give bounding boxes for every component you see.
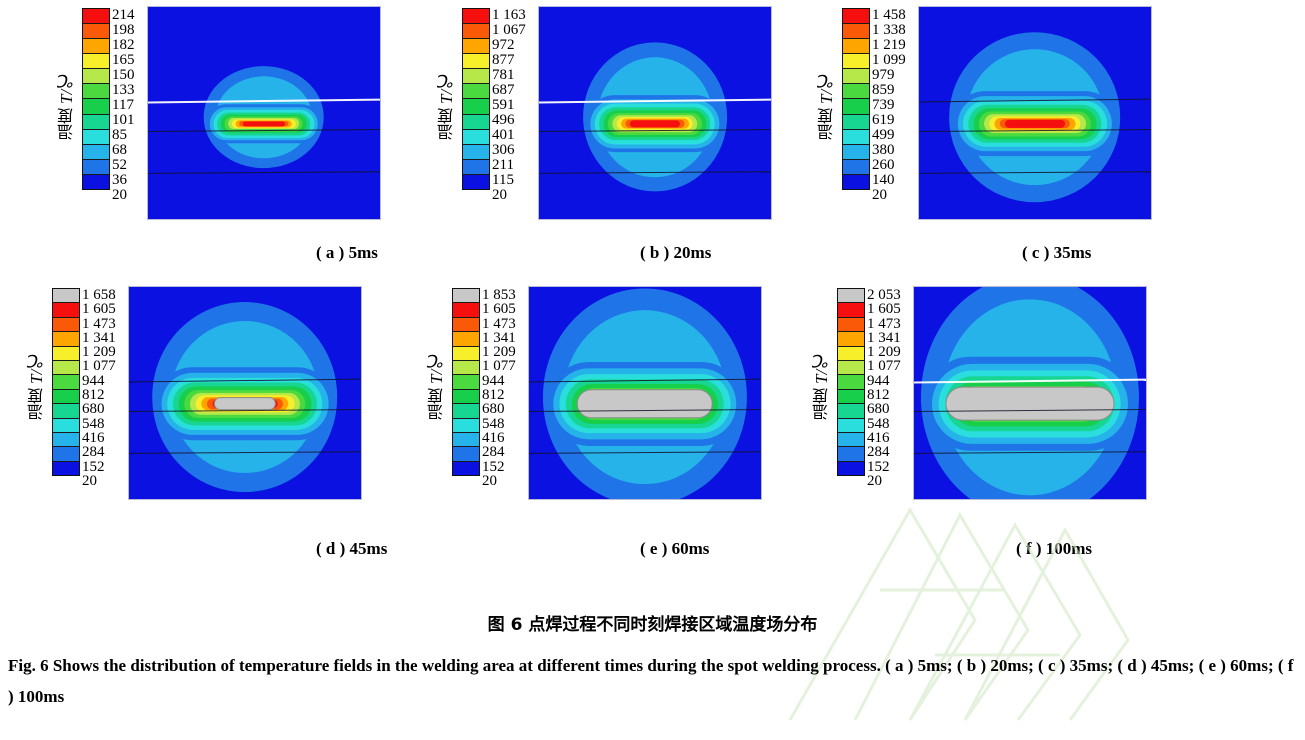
colorbar-band <box>463 84 489 99</box>
axis-label-cn-b: 温度 <box>435 108 459 140</box>
colorbar-a: 2141981821651501331171018568523620 <box>82 8 135 190</box>
axis-label-unit-f: T/℃ <box>812 350 832 384</box>
colorbar-band <box>453 404 479 418</box>
colorbar-band <box>843 145 869 160</box>
colorbar-band <box>463 9 489 24</box>
contour-band <box>630 120 680 127</box>
colorbar-c: 1 4581 3381 2191 09997985973961949938026… <box>842 8 906 190</box>
contour-plot-a <box>147 6 381 220</box>
colorbar-ticks-e: 1 8531 6051 4731 3411 2091 0779448126805… <box>482 288 516 474</box>
colorbar-ticks-f: 2 0531 6051 4731 3411 2091 0779448126805… <box>867 288 901 474</box>
colorbar-band <box>53 332 79 346</box>
colorbar-swatches-a <box>82 8 110 190</box>
sublabel-a: ( a ) 5ms <box>316 243 378 263</box>
contour-plot-c <box>918 6 1152 220</box>
panel-c: 温度 T/℃ 1 4581 3381 2191 0999798597396194… <box>815 2 1152 232</box>
colorbar-band <box>53 447 79 461</box>
colorbar-band <box>843 84 869 99</box>
colorbar-swatches-c <box>842 8 870 190</box>
colorbar-band <box>53 361 79 375</box>
colorbar-band <box>838 332 864 346</box>
colorbar-band <box>453 462 479 475</box>
colorbar-band <box>838 433 864 447</box>
sublabel-e: ( e ) 60ms <box>640 539 709 559</box>
colorbar-e: 1 8531 6051 4731 3411 2091 0779448126805… <box>452 288 516 476</box>
colorbar-band <box>53 419 79 433</box>
colorbar-band <box>83 115 109 130</box>
colorbar-band <box>838 375 864 389</box>
contour-plot-e <box>528 286 762 500</box>
colorbar-band <box>53 289 79 303</box>
sublabel-c: ( c ) 35ms <box>1022 243 1091 263</box>
colorbar-band <box>463 99 489 114</box>
colorbar-band <box>463 24 489 39</box>
colorbar-band <box>53 390 79 404</box>
colorbar-band <box>83 24 109 39</box>
colorbar-band <box>83 130 109 145</box>
colorbar-ticks-c: 1 4581 3381 2191 09997985973961949938026… <box>872 8 906 188</box>
colorbar-band <box>53 347 79 361</box>
sublabel-d: ( d ) 45ms <box>316 539 387 559</box>
panel-e: 温度 T/℃ 1 8531 6051 4731 3411 2091 077944… <box>425 282 762 512</box>
colorbar-band <box>463 115 489 130</box>
colorbar-band <box>463 54 489 69</box>
colorbar-band <box>83 84 109 99</box>
colorbar-band <box>838 419 864 433</box>
axis-label-temperature-f: 温度 T/℃ <box>810 300 834 470</box>
colorbar-band <box>843 69 869 84</box>
axis-label-unit-d: T/℃ <box>27 350 47 384</box>
colorbar-band <box>53 433 79 447</box>
colorbar-swatches-e <box>452 288 480 476</box>
axis-label-cn-a: 温度 <box>55 108 79 140</box>
colorbar-band <box>843 99 869 114</box>
colorbar-band <box>843 54 869 69</box>
colorbar-band <box>463 145 489 160</box>
molten-nugget <box>214 397 276 411</box>
axis-label-unit-e: T/℃ <box>427 350 447 384</box>
colorbar-d: 1 6581 6051 4731 3411 2091 0779448126805… <box>52 288 116 476</box>
colorbar-band <box>83 145 109 160</box>
colorbar-band <box>463 175 489 189</box>
colorbar-band <box>453 318 479 332</box>
panel-f: 温度 T/℃ 2 0531 6051 4731 3411 2091 077944… <box>810 282 1147 512</box>
axis-label-temperature-c: 温度 T/℃ <box>815 20 839 190</box>
colorbar-band <box>53 303 79 317</box>
colorbar-band <box>453 433 479 447</box>
axis-label-temperature-a: 温度 T/℃ <box>55 20 79 190</box>
colorbar-band <box>53 462 79 475</box>
molten-nugget <box>945 386 1114 421</box>
colorbar-band <box>838 303 864 317</box>
colorbar-band <box>843 115 869 130</box>
colorbar-band <box>453 447 479 461</box>
colorbar-band <box>83 9 109 24</box>
colorbar-band <box>463 69 489 84</box>
colorbar-band <box>838 462 864 475</box>
colorbar-ticks-b: 1 1631 067972877781687591496401306211115… <box>492 8 526 188</box>
contour-plot-b <box>538 6 772 220</box>
colorbar-band <box>463 160 489 175</box>
colorbar-band <box>843 24 869 39</box>
colorbar-band <box>453 332 479 346</box>
colorbar-band <box>838 289 864 303</box>
axis-label-temperature-e: 温度 T/℃ <box>425 300 449 470</box>
colorbar-band <box>843 175 869 189</box>
colorbar-band <box>83 54 109 69</box>
contour-band <box>242 121 284 126</box>
axis-label-unit-a: T/℃ <box>57 70 77 104</box>
panel-d: 温度 T/℃ 1 6581 6051 4731 3411 2091 077944… <box>25 282 362 512</box>
sheet-interface-line <box>147 171 381 174</box>
colorbar-band <box>838 318 864 332</box>
colorbar-b: 1 1631 067972877781687591496401306211115… <box>462 8 526 190</box>
colorbar-band <box>453 361 479 375</box>
colorbar-band <box>53 404 79 418</box>
panel-b: 温度 T/℃ 1 1631 06797287778168759149640130… <box>435 2 772 232</box>
colorbar-band <box>463 39 489 54</box>
figure-caption-en: Fig. 6 Shows the distribution of tempera… <box>8 650 1298 713</box>
colorbar-band <box>843 9 869 24</box>
colorbar-band <box>838 390 864 404</box>
sublabel-b: ( b ) 20ms <box>640 243 711 263</box>
colorbar-band <box>843 130 869 145</box>
colorbar-band <box>453 303 479 317</box>
colorbar-band <box>453 419 479 433</box>
colorbar-f: 2 0531 6051 4731 3411 2091 0779448126805… <box>837 288 901 476</box>
colorbar-band <box>53 375 79 389</box>
axis-label-cn-d: 温度 <box>25 388 49 420</box>
colorbar-band <box>843 39 869 54</box>
contour-plot-f <box>913 286 1147 500</box>
colorbar-ticks-d: 1 6581 6051 4731 3411 2091 0779448126805… <box>82 288 116 474</box>
colorbar-band <box>838 404 864 418</box>
axis-label-cn-e: 温度 <box>425 388 449 420</box>
colorbar-band <box>83 39 109 54</box>
colorbar-band <box>83 69 109 84</box>
figure-caption-cn: 图 6 点焊过程不同时刻焊接区域温度场分布 <box>0 610 1305 635</box>
contour-plot-d <box>128 286 362 500</box>
axis-label-temperature-d: 温度 T/℃ <box>25 300 49 470</box>
colorbar-swatches-b <box>462 8 490 190</box>
colorbar-band <box>83 160 109 175</box>
colorbar-band <box>453 347 479 361</box>
colorbar-ticks-a: 2141981821651501331171018568523620 <box>112 8 135 188</box>
panel-a: 温度 T/℃ 214198182165150133117101856852362… <box>55 2 381 232</box>
colorbar-swatches-f <box>837 288 865 476</box>
axis-label-temperature-b: 温度 T/℃ <box>435 20 459 190</box>
sublabel-f: ( f ) 100ms <box>1016 539 1092 559</box>
colorbar-band <box>453 375 479 389</box>
axis-label-cn-c: 温度 <box>815 108 839 140</box>
axis-label-unit-c: T/℃ <box>817 70 837 104</box>
colorbar-band <box>83 99 109 114</box>
colorbar-swatches-d <box>52 288 80 476</box>
figure-temperature-fields: 温度 T/℃ 214198182165150133117101856852362… <box>0 0 1305 736</box>
colorbar-band <box>453 390 479 404</box>
colorbar-band <box>453 289 479 303</box>
colorbar-band <box>53 318 79 332</box>
colorbar-band <box>843 160 869 175</box>
colorbar-band <box>838 447 864 461</box>
colorbar-band <box>83 175 109 189</box>
colorbar-band <box>838 347 864 361</box>
contour-band <box>1005 119 1065 127</box>
panel-row-top: 温度 T/℃ 214198182165150133117101856852362… <box>0 2 1305 232</box>
colorbar-band <box>463 130 489 145</box>
colorbar-band <box>838 361 864 375</box>
panel-row-bottom: 温度 T/℃ 1 6581 6051 4731 3411 2091 077944… <box>0 282 1305 512</box>
axis-label-cn-f: 温度 <box>810 388 834 420</box>
molten-nugget <box>576 389 713 419</box>
axis-label-unit-b: T/℃ <box>437 70 457 104</box>
